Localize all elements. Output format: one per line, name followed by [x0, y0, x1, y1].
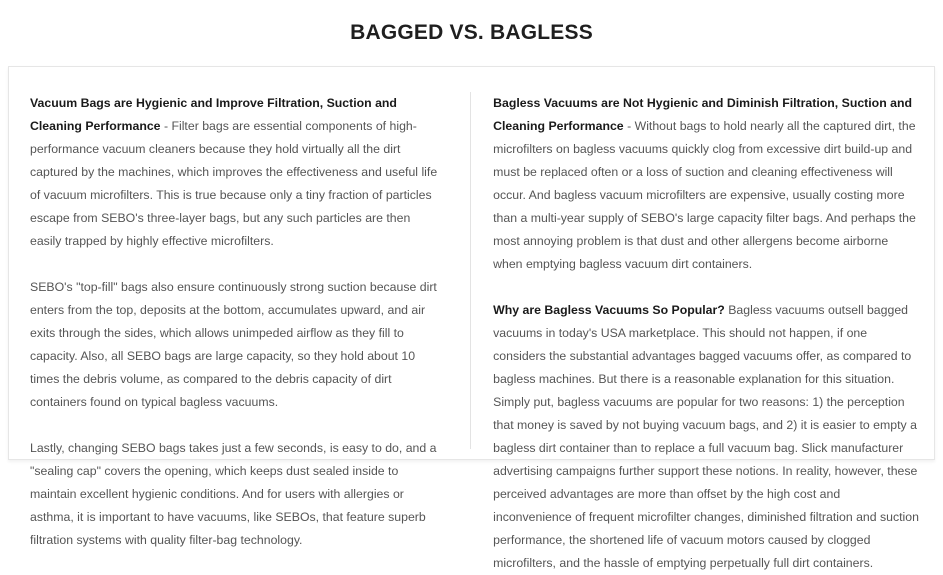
page-root: BAGGED VS. BAGLESS Vacuum Bags are Hygie…: [0, 0, 943, 470]
paragraph-body: - Filter bags are essential components o…: [30, 119, 437, 248]
two-column-layout: Vacuum Bags are Hygienic and Improve Fil…: [9, 67, 934, 459]
paragraph-body: SEBO's "top-fill" bags also ensure conti…: [30, 280, 437, 409]
paragraph: Bagless Vacuums are Not Hygienic and Dim…: [493, 92, 920, 276]
paragraph-body: Lastly, changing SEBO bags takes just a …: [30, 441, 437, 547]
paragraph: Why are Bagless Vacuums So Popular? Bagl…: [493, 299, 920, 575]
paragraph-lead: Why are Bagless Vacuums So Popular?: [493, 303, 725, 317]
paragraph: SEBO's "top-fill" bags also ensure conti…: [30, 276, 444, 414]
paragraph-body: Bagless vacuums outsell bagged vacuums i…: [493, 303, 919, 570]
right-column: Bagless Vacuums are Not Hygienic and Dim…: [470, 92, 920, 449]
paragraph: Vacuum Bags are Hygienic and Improve Fil…: [30, 92, 444, 253]
paragraph-body: - Without bags to hold nearly all the ca…: [493, 119, 916, 271]
paragraph: Lastly, changing SEBO bags takes just a …: [30, 437, 444, 552]
content-card: Vacuum Bags are Hygienic and Improve Fil…: [8, 66, 935, 460]
page-title: BAGGED VS. BAGLESS: [0, 0, 943, 46]
left-column: Vacuum Bags are Hygienic and Improve Fil…: [23, 92, 470, 449]
